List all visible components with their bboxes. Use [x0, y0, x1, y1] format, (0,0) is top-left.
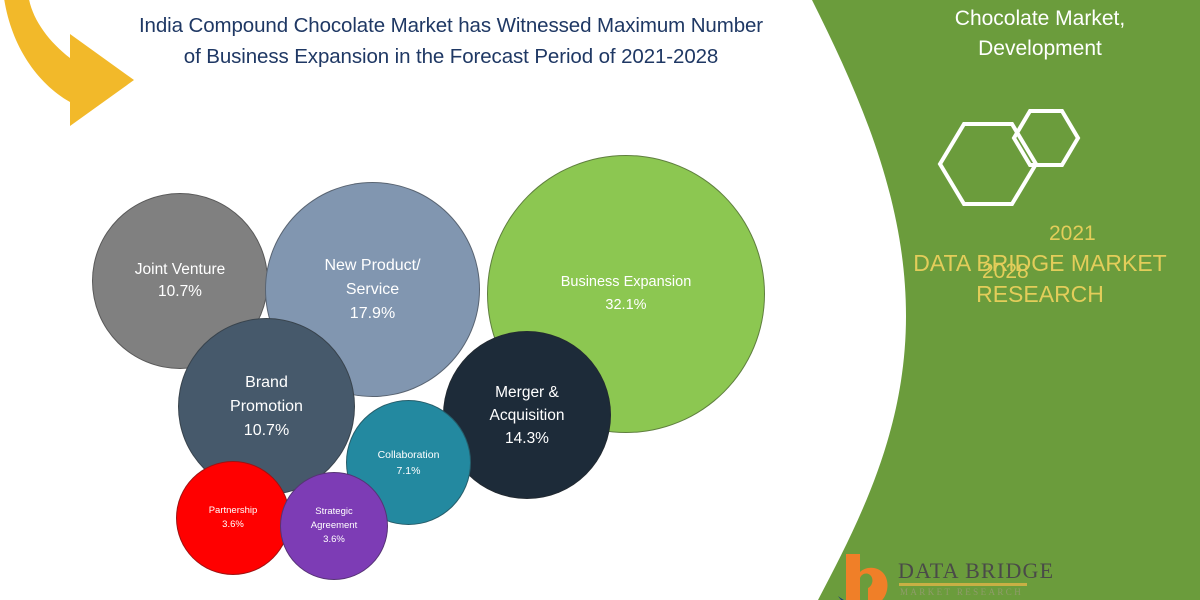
- bubble-label-business-expansion: Business Expansion 32.1%: [555, 271, 698, 317]
- logo-underline: [899, 583, 1027, 586]
- bubble-strategic-agreement[interactable]: Strategic Agreement 3.6%: [280, 472, 388, 580]
- logo-tagline: MARKET RESEARCH: [900, 587, 1023, 597]
- title-line-1: India Compound Chocolate Market has Witn…: [86, 10, 816, 41]
- bubble-label-new-product-service: New Product/ Service 17.9%: [318, 254, 426, 326]
- bubble-label-strategic-agreement: Strategic Agreement 3.6%: [305, 505, 363, 547]
- bubble-label-brand-promotion: Brand Promotion 10.7%: [224, 371, 309, 443]
- brand-name: DATA BRIDGE MARKET RESEARCH: [880, 248, 1200, 310]
- bubble-label-joint-venture: Joint Venture 10.7%: [129, 259, 231, 303]
- bubble-label-partnership: Partnership 3.6%: [203, 504, 264, 532]
- bubble-partnership[interactable]: Partnership 3.6%: [176, 461, 290, 575]
- hexagon-year-2021: 2021: [1049, 222, 1096, 246]
- bubble-label-collaboration: Collaboration 7.1%: [372, 447, 446, 479]
- hexagon-2021-shape: [1014, 111, 1078, 165]
- left-panel: India Compound Chocolate Market has Witn…: [0, 0, 860, 600]
- green-panel-content: India Compound Chocolate Market, Develop…: [880, 0, 1200, 600]
- hexagon-group: 2021 2028: [910, 98, 1150, 223]
- bubble-label-merger-acquisition: Merger & Acquisition 14.3%: [484, 381, 571, 450]
- logo-mark-icon: [838, 552, 898, 600]
- logo-wordmark: DATA BRIDGE: [898, 558, 1054, 584]
- hexagon-2028-shape: [940, 124, 1036, 204]
- hexagon-outlines-icon: [910, 98, 1150, 223]
- panel-heading: India Compound Chocolate Market, Develop…: [880, 0, 1200, 64]
- infographic-canvas: India Compound Chocolate Market has Witn…: [0, 0, 1200, 600]
- data-bridge-logo: DATA BRIDGE MARKET RESEARCH: [838, 552, 1098, 600]
- title-line-2: of Business Expansion in the Forecast Pe…: [86, 41, 816, 72]
- page-title: India Compound Chocolate Market has Witn…: [86, 10, 816, 72]
